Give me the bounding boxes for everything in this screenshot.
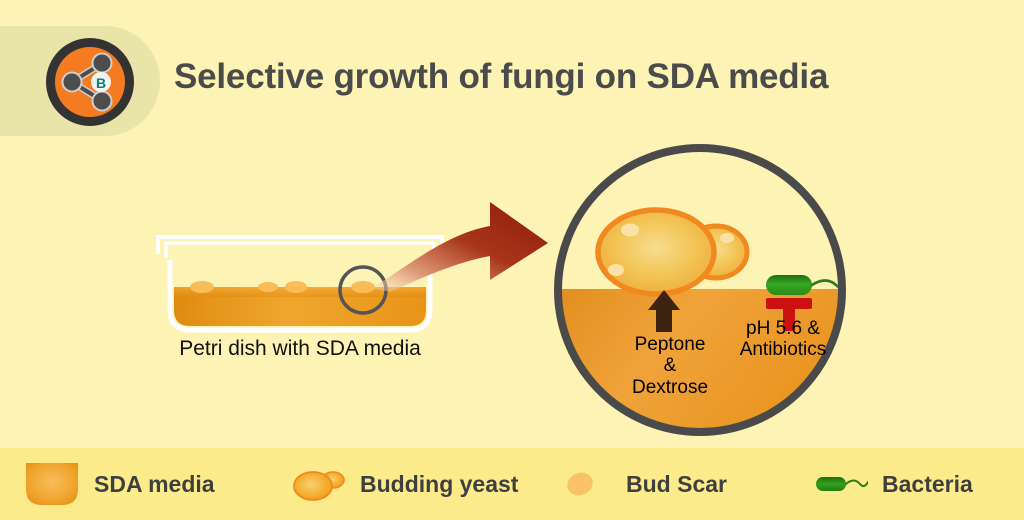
bud-scar-icon bbox=[608, 264, 624, 276]
brand-logo: B bbox=[44, 36, 136, 128]
flagellum-icon bbox=[846, 481, 868, 487]
nutrient-label-line-3: Dextrose bbox=[608, 377, 732, 398]
legend-label-bacteria: Bacteria bbox=[882, 471, 973, 498]
nutrient-label: Peptone & Dextrose bbox=[608, 334, 732, 398]
bud-scar-icon bbox=[556, 461, 612, 507]
bud-scar-icon bbox=[621, 224, 639, 237]
legend-item-sda-media: SDA media bbox=[24, 448, 215, 520]
legend-item-bacteria: Bacteria bbox=[812, 448, 973, 520]
legend-item-bud-scar: Bud Scar bbox=[556, 448, 727, 520]
petri-dish-caption: Petri dish with SDA media bbox=[150, 337, 450, 361]
sda-media-swatch-icon bbox=[24, 461, 80, 507]
svg-text:B: B bbox=[96, 75, 106, 91]
curved-arrow-icon bbox=[368, 188, 554, 292]
diagram-canvas: B Selective growth of fungi on SDA media bbox=[0, 0, 1024, 520]
bud-scar-icon bbox=[720, 233, 734, 243]
legend-label-sda-media: SDA media bbox=[94, 471, 215, 498]
budding-yeast-icon bbox=[290, 461, 346, 507]
bacteria-icon bbox=[812, 461, 868, 507]
nutrient-label-line-1: Peptone bbox=[608, 334, 732, 355]
legend-label-budding-yeast: Budding yeast bbox=[360, 471, 518, 498]
flow-arrow bbox=[368, 188, 554, 292]
inhibition-label: pH 5.6 & Antibiotics bbox=[716, 318, 850, 361]
nutrient-label-line-2: & bbox=[608, 355, 732, 376]
inhibition-label-line-2: Antibiotics bbox=[716, 339, 850, 360]
inhibition-label-line-1: pH 5.6 & bbox=[716, 318, 850, 339]
legend-item-budding-yeast: Budding yeast bbox=[290, 448, 518, 520]
legend-label-bud-scar: Bud Scar bbox=[626, 471, 727, 498]
page-title: Selective growth of fungi on SDA media bbox=[174, 57, 828, 97]
share-network-icon: B bbox=[44, 36, 136, 128]
